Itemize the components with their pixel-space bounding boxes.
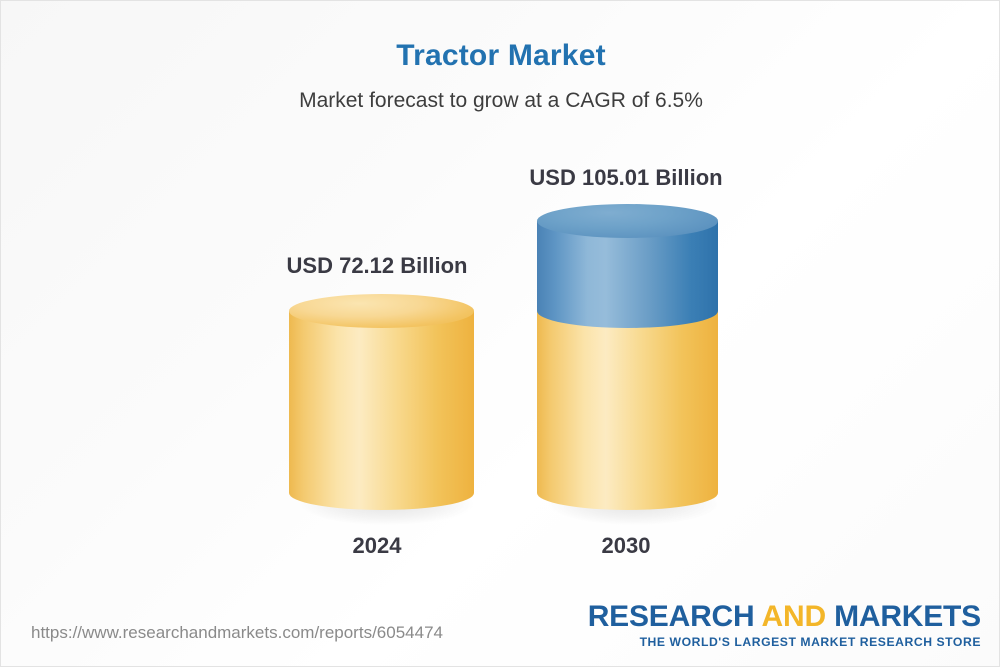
chart-subtitle: Market forecast to grow at a CAGR of 6.5…	[1, 89, 1000, 113]
logo-tagline: THE WORLD'S LARGEST MARKET RESEARCH STOR…	[588, 635, 981, 649]
bar-2024-top-cap	[289, 294, 474, 328]
logo-word-markets: MARKETS	[834, 600, 981, 633]
bar-2030-top-cap	[537, 204, 718, 238]
bar-cylinder-2030[interactable]	[537, 204, 718, 510]
bar-cylinder-2024[interactable]	[289, 294, 474, 510]
chart-canvas: Tractor Market Market forecast to grow a…	[0, 0, 1000, 667]
axis-label-2030: 2030	[519, 533, 733, 559]
logo-wordmark: RESEARCH AND MARKETS	[588, 601, 981, 633]
axis-label-2024: 2024	[279, 533, 475, 559]
logo-word-research: RESEARCH	[588, 600, 755, 633]
bar-2030-body-base-segment	[537, 311, 718, 493]
bar-value-label-2030: USD 105.01 Billion	[519, 165, 733, 191]
page-title: Tractor Market	[1, 39, 1000, 73]
source-url[interactable]: https://www.researchandmarkets.com/repor…	[31, 623, 443, 643]
bar-value-label-2024: USD 72.12 Billion	[279, 253, 475, 279]
logo-word-and: AND	[762, 600, 826, 633]
research-and-markets-logo[interactable]: RESEARCH AND MARKETS THE WORLD'S LARGEST…	[588, 601, 981, 649]
bar-2024-body-base-segment	[289, 311, 474, 493]
